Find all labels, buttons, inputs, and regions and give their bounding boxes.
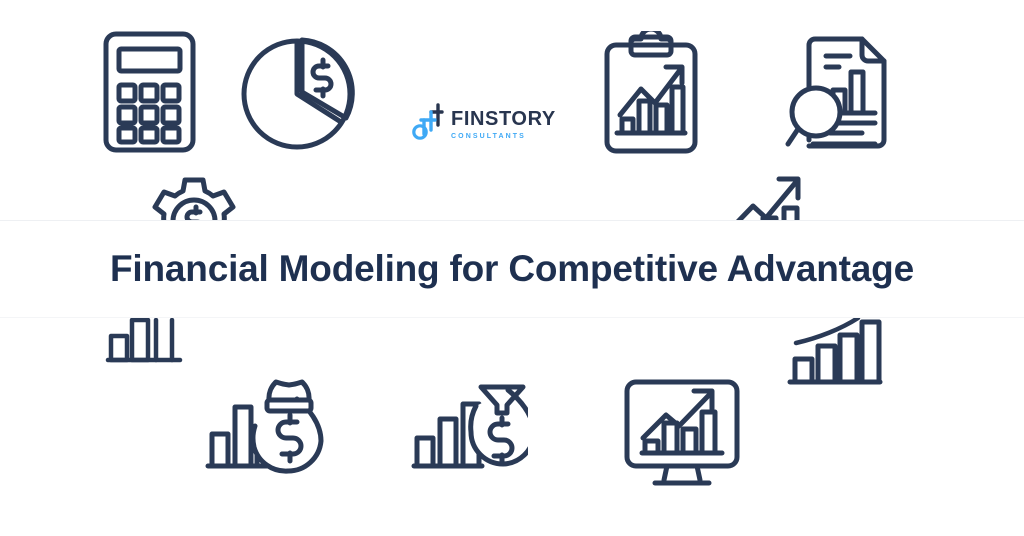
money-bag-bar-chart-icon <box>203 374 327 476</box>
calculator-icon <box>97 28 202 156</box>
bar-chart-icon <box>104 314 184 366</box>
finstory-wordmark: FINSTORY <box>451 109 556 129</box>
monitor-growth-chart-icon <box>622 377 742 490</box>
bar-chart-trend-line-icon <box>786 315 884 389</box>
page-title: Financial Modeling for Competitive Advan… <box>110 249 914 290</box>
document-analysis-icon <box>785 28 895 158</box>
finstory-logo: FINSTORY CONSULTANTS <box>412 92 542 154</box>
clipboard-growth-chart-icon <box>601 31 701 157</box>
finstory-logo-mark <box>412 103 444 143</box>
finstory-tagline: CONSULTANTS <box>451 133 556 140</box>
title-band: Financial Modeling for Competitive Advan… <box>0 220 1024 318</box>
financial-modeling-banner: FINSTORY CONSULTANTS Financial Modeling … <box>0 0 1024 536</box>
rising-bars-money-bag-icon <box>410 374 528 476</box>
pie-chart-dollar-icon <box>240 32 356 156</box>
finstory-wordmark-group: FINSTORY CONSULTANTS <box>451 107 556 140</box>
